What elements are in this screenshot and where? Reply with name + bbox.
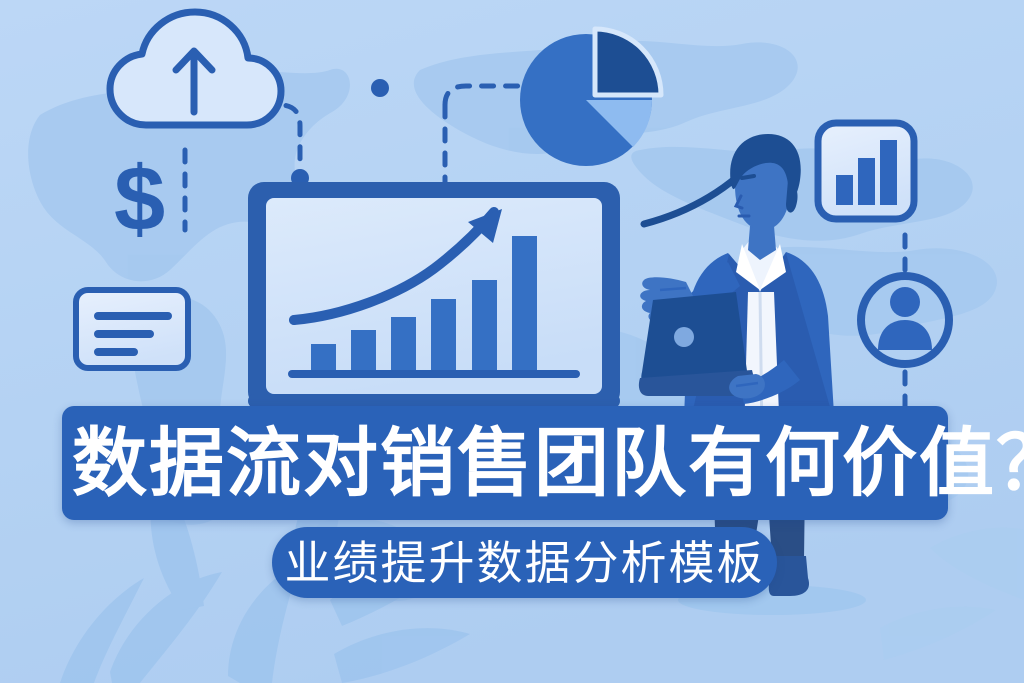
eyebrow — [742, 176, 754, 178]
poster-canvas: $ — [0, 0, 1024, 683]
page-title: 数据流对销售团队有何价值？ — [72, 408, 992, 518]
page-subtitle: 业绩提升数据分析模板 — [272, 527, 777, 598]
